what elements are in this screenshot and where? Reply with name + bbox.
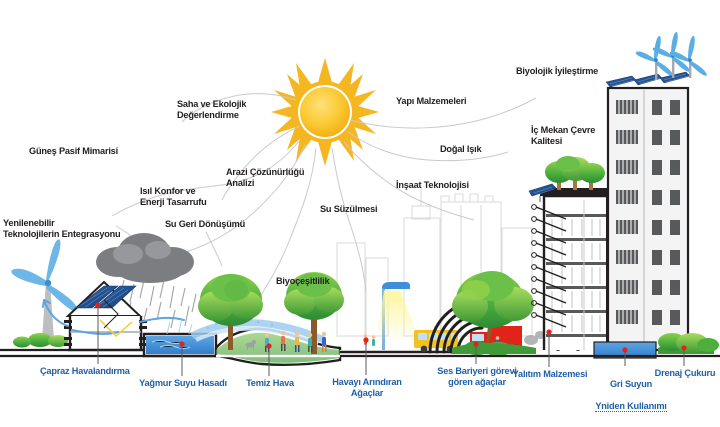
apartment-tower bbox=[606, 32, 707, 350]
label-saha-ve-ekolojik-degerlendirme: Saha ve Ekolojik Değerlendirme bbox=[177, 99, 281, 121]
label-temiz-hava: Temiz Hava bbox=[236, 378, 304, 389]
label-arazi-cozunurlugu-analizi: Arazi Çözünürlüğü Analizi bbox=[226, 167, 328, 189]
roof-garden bbox=[545, 156, 605, 190]
label-su-geri-donusumu: Su Geri Dönüşümü bbox=[165, 219, 275, 230]
label-ic-mekan-cevre-kalitesi: İç Mekan Çevre Kalitesi bbox=[531, 125, 631, 147]
drainage-pit bbox=[658, 333, 719, 354]
label-yapi-malzemeleri: Yapı Malzemeleri bbox=[396, 96, 496, 107]
infographic-canvas: Güneş Pasif Mimarisi Saha ve Ekolojik De… bbox=[0, 0, 720, 427]
label-biyolojik-iyilestirme: Biyolojik İyileştirme bbox=[516, 66, 632, 77]
label-insaat-teknolojisi: İnşaat Teknolojisi bbox=[396, 180, 496, 191]
label-dogal-isik: Doğal Işık bbox=[440, 144, 510, 155]
label-yenilenebilir-teknolojilerin-entegrasyonu: Yenilenebilir Teknolojilerin Entegrasyon… bbox=[3, 218, 133, 240]
label-gunes-pasif-mimarisi: Güneş Pasif Mimarisi bbox=[29, 146, 153, 157]
greywater-label-line2: Yniden Kullanımı bbox=[595, 401, 666, 412]
label-havayi-arindiran-agaclar: Havayı Arındıran Ağaçlar bbox=[318, 377, 416, 399]
label-isil-konfor-ve-enerji-tasarrufu: Isıl Konfor ve Enerji Tasarrufu bbox=[140, 186, 244, 208]
greywater-label-line1: Gri Suyun bbox=[610, 379, 652, 389]
label-drenaj-cukuru: Drenaj Çukuru bbox=[642, 368, 720, 379]
noise-barrier-tree bbox=[452, 271, 536, 356]
rooftop-wind-turbines bbox=[636, 32, 707, 80]
label-biyocesitlilik: Biyoçeşitlilik bbox=[276, 276, 360, 287]
wind-turbine-icon bbox=[11, 239, 78, 347]
label-capraz-havalandirma: Çapraz Havalandırma bbox=[40, 366, 170, 377]
label-su-suzulmesi: Su Süzülmesi bbox=[320, 204, 404, 215]
street-lamp-icon bbox=[376, 282, 420, 352]
sun-icon bbox=[271, 58, 379, 166]
label-yagmur-suyu-hasadi: Yağmur Suyu Hasadı bbox=[130, 378, 236, 389]
